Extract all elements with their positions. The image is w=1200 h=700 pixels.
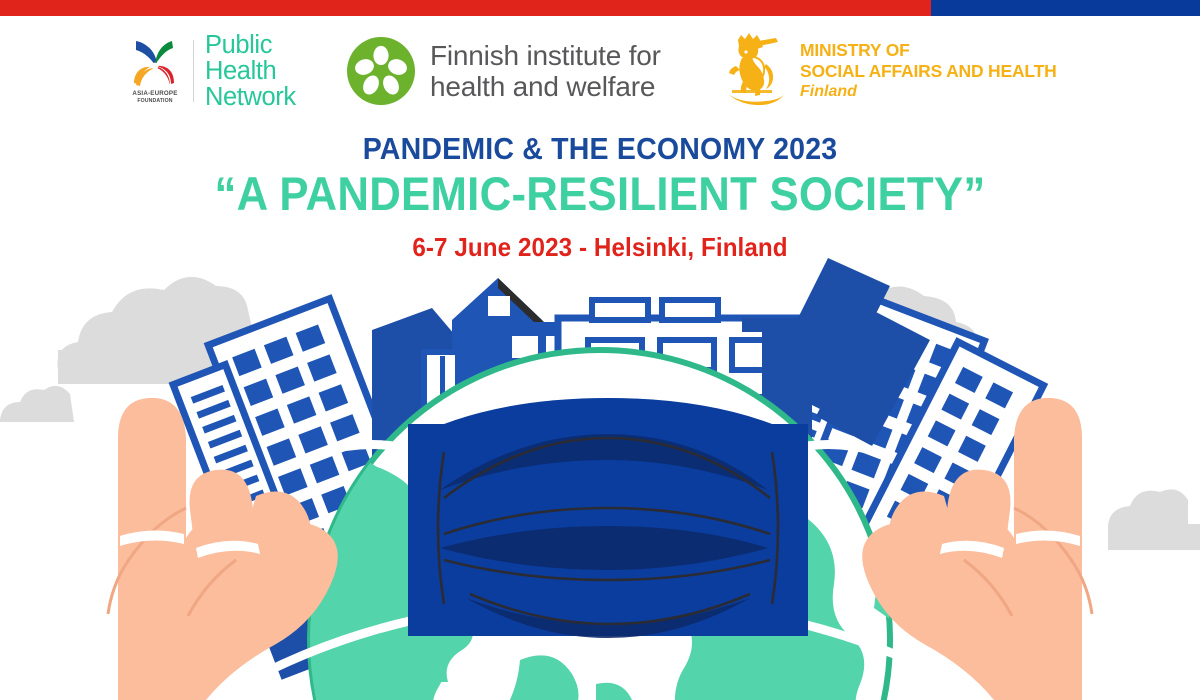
building-right-cap xyxy=(742,318,810,332)
event-theme-title: “A PANDEMIC-RESILIENT SOCIETY” xyxy=(42,168,1158,221)
event-banner: ASIA-EUROPE FOUNDATION Public Health Net… xyxy=(0,0,1200,700)
headline-block: PANDEMIC & THE ECONOMY 2023 “A PANDEMIC-… xyxy=(0,132,1200,261)
face-mask xyxy=(408,398,808,638)
illustration-hands-globe-mask xyxy=(0,0,1200,700)
event-series-title: PANDEMIC & THE ECONOMY 2023 xyxy=(48,132,1152,166)
event-date-location: 6-7 June 2023 - Helsinki, Finland xyxy=(42,233,1158,262)
